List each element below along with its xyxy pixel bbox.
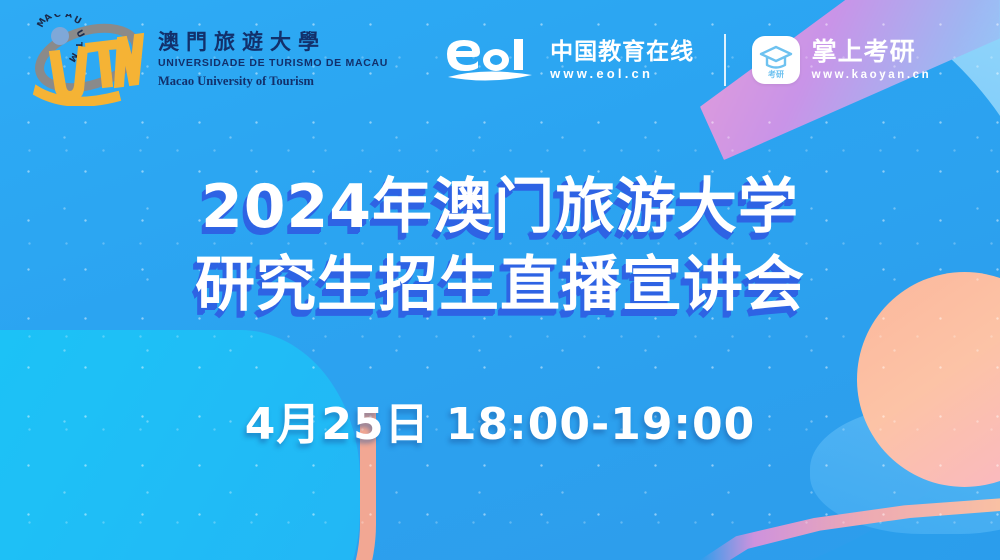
eol-emblem-icon [444, 37, 536, 83]
utm-name-pt: UNIVERSIDADE DE TURISMO DE MACAU [158, 58, 388, 70]
kaoyan-name-cn: 掌上考研 [812, 39, 932, 65]
headline-line-2: 研究生招生直播宣讲会 [0, 246, 1000, 324]
eol-name-block: 中国教育在线 www.eol.cn [550, 40, 694, 81]
kaoyan-name-block: 掌上考研 www.kaoyan.cn [812, 39, 932, 81]
kaoyan-logo: 考研 掌上考研 www.kaoyan.cn [752, 36, 932, 84]
kaoyan-icon-label: 考研 [768, 69, 784, 79]
utm-name-en: Macao University of Tourism [158, 75, 388, 89]
logo-bar: M A C A U U T M [26, 14, 931, 106]
eol-name-cn: 中国教育在线 [550, 40, 694, 64]
promotional-banner: M A C A U U T M [0, 0, 1000, 560]
eol-url: www.eol.cn [550, 67, 694, 81]
svg-text:U: U [72, 15, 83, 27]
utm-name-cn: 澳門旅遊大學 [158, 31, 388, 54]
logo-divider [724, 34, 726, 86]
svg-text:A: A [65, 14, 73, 21]
kaoyan-url: www.kaoyan.cn [812, 69, 932, 81]
utm-emblem-icon: M A C A U U T M [26, 14, 144, 106]
headline-line-1: 2024年澳门旅游大学 [0, 168, 1000, 246]
headline: 2024年澳门旅游大学 研究生招生直播宣讲会 [0, 168, 1000, 324]
event-datetime: 4月25日 18:00-19:00 [0, 388, 1000, 452]
eol-logo: 中国教育在线 www.eol.cn [444, 37, 694, 83]
utm-logo: M A C A U U T M [26, 14, 388, 106]
utm-name-block: 澳門旅遊大學 UNIVERSIDADE DE TURISMO DE MACAU … [158, 31, 388, 88]
graduation-cap-icon: 考研 [752, 36, 800, 84]
